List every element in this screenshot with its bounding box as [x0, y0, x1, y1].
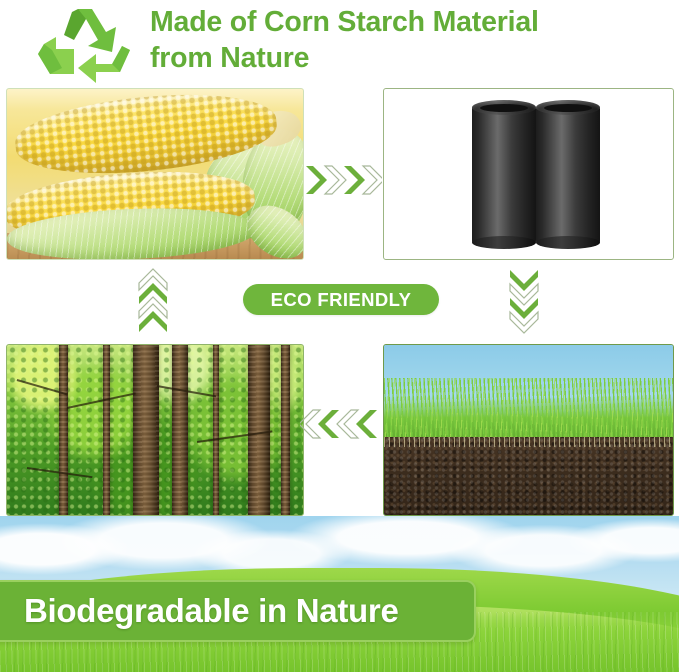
page-title-line-2: from Nature: [150, 40, 670, 76]
chevrons-down: [504, 266, 544, 336]
tree-trunk: [213, 344, 219, 516]
tree-trunk: [248, 344, 270, 516]
bag-roll: [472, 107, 536, 243]
page-title: Made of Corn Starch Material from Nature: [150, 4, 670, 76]
tree-trunk: [281, 344, 290, 516]
eco-friendly-badge: ECO FRIENDLY: [243, 284, 439, 315]
biodegradable-banner: Biodegradable in Nature: [0, 580, 476, 642]
tree-trunk: [59, 344, 68, 516]
bag-roll: [536, 107, 600, 243]
roll-core: [480, 104, 528, 112]
chevrons-up: [133, 266, 173, 336]
soil-layer: [384, 437, 673, 515]
recycle-icon: [34, 6, 138, 84]
grass-soil-photo: [383, 344, 674, 516]
forest-photo: [6, 344, 304, 516]
tree-trunk: [172, 344, 188, 516]
roll-core: [544, 104, 592, 112]
corn-cobs-photo: [6, 88, 304, 260]
chevrons-right: [304, 160, 382, 200]
tree-trunk: [133, 344, 159, 516]
roll-bottom: [536, 236, 600, 249]
eco-friendly-label: ECO FRIENDLY: [271, 289, 412, 311]
black-bag-rolls-photo: [383, 88, 674, 260]
header: Made of Corn Starch Material from Nature: [0, 0, 679, 86]
roll-bottom: [472, 236, 536, 249]
tree-trunk: [103, 344, 110, 516]
biodegradable-label: Biodegradable in Nature: [24, 592, 399, 630]
chevrons-left: [300, 404, 382, 444]
infographic-root: Made of Corn Starch Material from Nature: [0, 0, 679, 672]
grass-roots: [384, 437, 673, 447]
roll-body: [536, 107, 600, 243]
roll-body: [472, 107, 536, 243]
page-title-line-1: Made of Corn Starch Material: [150, 4, 670, 40]
